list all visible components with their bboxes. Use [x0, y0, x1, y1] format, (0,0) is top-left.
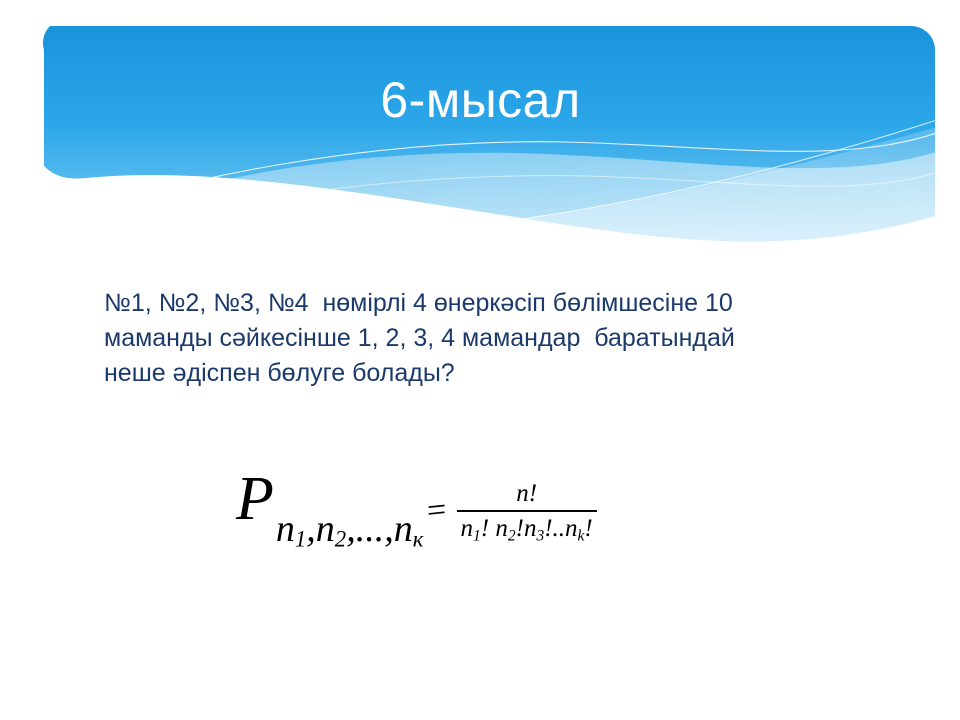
den-sep-2: ! [516, 515, 524, 542]
formula-sub-nk-index: к [413, 527, 424, 552]
formula-left-side: P n1,n2,...,nк [236, 472, 421, 529]
formula-sub-n1-base: n [276, 508, 295, 550]
den-n3-base: n [524, 515, 537, 542]
den-n1-base: n [461, 515, 474, 542]
den-n2-index: 2 [508, 527, 516, 544]
formula-fraction: n! n1! n2!n3!..nk! [457, 480, 597, 544]
formula-sub-nk-base: n [394, 508, 413, 550]
formula-denominator: n1! n2!n3!..nk! [457, 512, 597, 544]
den-nk-base: n [565, 515, 578, 542]
body-text-line: неше әдіспен бөлуге болады? [104, 356, 864, 391]
den-sep-3: !.. [544, 515, 565, 542]
formula-subscript: n1,n2,...,nк [276, 510, 423, 551]
formula-sub-ellipsis: ,..., [346, 508, 394, 550]
den-sep-4: ! [584, 515, 592, 542]
body-text: №1, №2, №3, №4 нөмірлі 4 өнеркәсіп бөлім… [104, 286, 864, 391]
formula-symbol-p: P [236, 472, 274, 528]
formula-numerator: n! [510, 480, 543, 510]
body-text-line: №1, №2, №3, №4 нөмірлі 4 өнеркәсіп бөлім… [104, 286, 864, 321]
formula-equals-sign: = [427, 491, 446, 531]
den-n2-base: n [495, 515, 508, 542]
header-banner [26, 26, 935, 254]
page-title: 6-мысал [26, 74, 935, 127]
formula-sub-n1-index: 1 [295, 527, 306, 552]
slide: 6-мысал №1, №2, №3, №4 нөмірлі 4 өнеркәс… [0, 0, 960, 720]
den-sep-1: ! [481, 515, 496, 542]
den-n1-index: 1 [473, 527, 481, 544]
formula-sub-comma-1: , [306, 508, 316, 550]
permutation-formula: P n1,n2,...,nк = n! n1! n2!n3!..nk! [236, 466, 581, 530]
body-text-line: маманды сәйкесінше 1, 2, 3, 4 мамандар б… [104, 321, 864, 356]
formula-sub-n2-index: 2 [335, 527, 346, 552]
formula-sub-n2-base: n [316, 508, 335, 550]
